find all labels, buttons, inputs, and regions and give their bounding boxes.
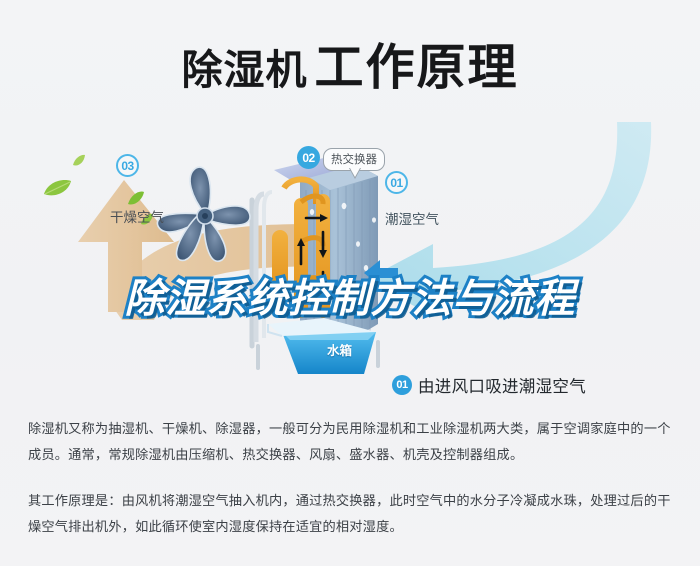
illustration-label-humid-air: 潮湿空气 — [385, 208, 439, 228]
paragraph-1: 除湿机又称为抽湿机、干燥机、除湿器，一般可分为民用除湿机和工业除湿机两大类，属于… — [28, 416, 678, 468]
illustration-badge-02: 02 — [297, 146, 320, 169]
illustration-label-dry-air: 干燥空气 — [110, 206, 164, 226]
title-part-2: 工作原理 — [314, 41, 518, 95]
leaf-icon — [127, 190, 145, 206]
legend-badge-01: 01 — [392, 375, 412, 395]
leaf-icon — [42, 178, 72, 198]
body-copy: 除湿机又称为抽湿机、干燥机、除湿器，一般可分为民用除湿机和工业除湿机两大类，属于… — [28, 416, 678, 540]
paragraph-2: 其工作原理是：由风机将潮湿空气抽入机内，通过热交换器，此时空气中的水分子冷凝成水… — [28, 488, 678, 540]
legend-text-01: 由进风口吸进潮湿空气 — [418, 373, 586, 397]
legend-item: 01 由进风口吸进潮湿空气 — [392, 370, 692, 398]
legend-list: 01 由进风口吸进潮湿空气 02 潮湿空气经过蒸发器冷凝成水珠 03 从上部出风… — [392, 370, 692, 398]
fan-icon — [150, 162, 260, 272]
leaf-icon — [72, 154, 86, 167]
infographic-page: 除湿机工作原理 — [0, 0, 700, 566]
callout-tail-icon — [349, 168, 361, 179]
water-tank-label: 水箱 — [327, 340, 352, 359]
page-title: 除湿机工作原理 — [0, 28, 700, 99]
title-part-1: 除湿机 — [181, 47, 307, 93]
illustration-panel: 热交换器 03 干燥空气 02 01 潮湿空气 水箱 01 由进风口吸进潮湿空气… — [0, 118, 700, 398]
illustration-badge-01: 01 — [385, 171, 408, 194]
illustration-badge-03: 03 — [116, 154, 139, 177]
